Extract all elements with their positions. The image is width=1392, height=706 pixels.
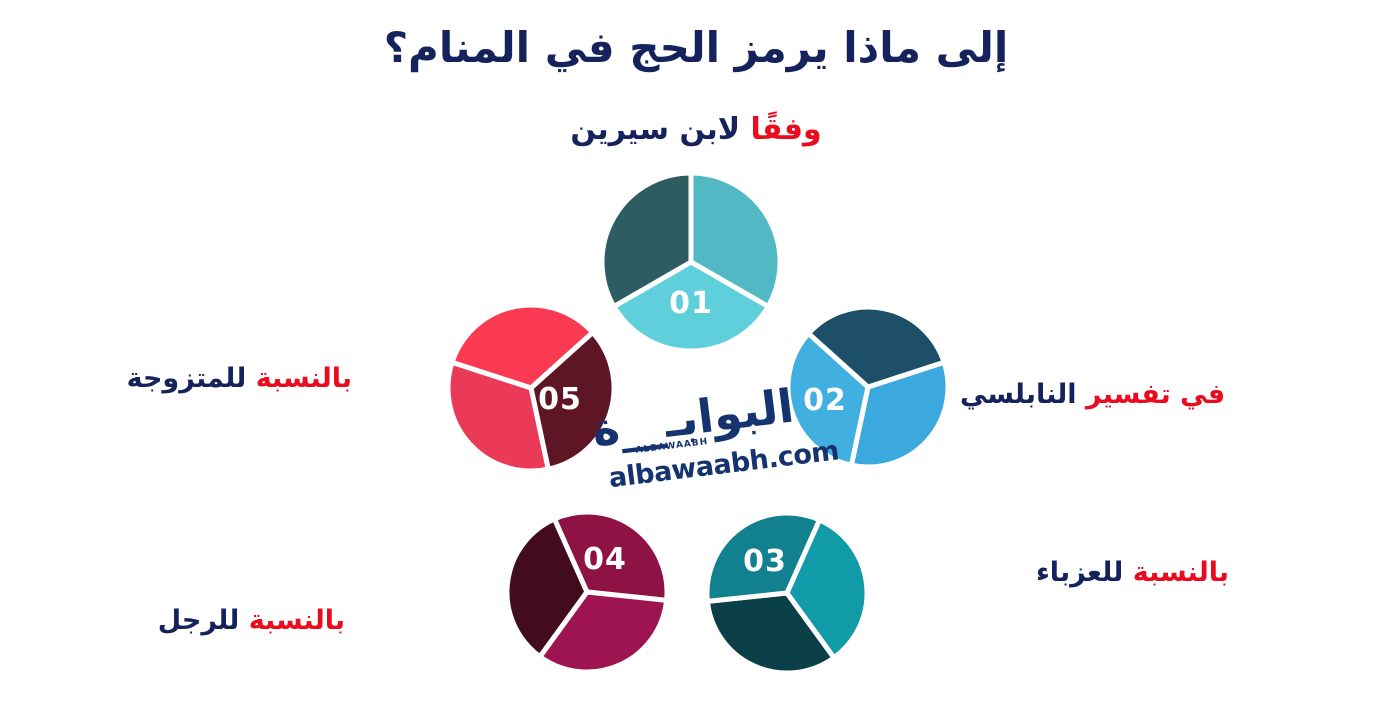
pie-wheel-02[interactable]	[788, 307, 948, 467]
page-title-text: إلى ماذا يرمز الحج في المنام؟	[384, 23, 1009, 72]
label-wheel-04: بالنسبة للرجل	[0, 604, 345, 638]
watermark-tiny-text: ALBAWAABH	[635, 437, 709, 456]
label-wheel-05-accent: بالنسبة	[256, 363, 352, 394]
page-subtitle: وفقًا لابن سيرين	[0, 112, 1392, 148]
page-title: إلى ماذا يرمز الحج في المنام؟	[0, 24, 1392, 72]
pie-wheel-01[interactable]	[602, 173, 780, 351]
watermark-arabic: البوابـ__ة	[589, 379, 797, 457]
pie-svg-04	[507, 512, 667, 672]
page-subtitle-accent: وفقًا	[751, 112, 822, 147]
label-wheel-04-accent: بالنسبة	[249, 605, 345, 636]
page-subtitle-rest: لابن سيرين	[570, 112, 750, 147]
pie-svg-01	[602, 173, 780, 351]
label-wheel-03: بالنسبة للعزباء	[1036, 556, 1392, 590]
label-wheel-02-rest: النابلسي	[960, 379, 1086, 410]
pie-wheel-03[interactable]	[707, 513, 867, 673]
pie-svg-05	[448, 305, 614, 471]
label-wheel-02-accent: في تفسير	[1086, 379, 1225, 410]
label-wheel-05-rest: للمتزوجة	[127, 363, 256, 394]
pie-wheel-04[interactable]	[507, 512, 667, 672]
label-wheel-05: بالنسبة للمتزوجة	[0, 362, 352, 396]
label-wheel-03-accent: بالنسبة	[1133, 557, 1229, 588]
pie-svg-03	[707, 513, 867, 673]
label-wheel-03-rest: للعزباء	[1036, 557, 1133, 588]
label-wheel-04-rest: للرجل	[158, 605, 249, 636]
label-wheel-02: في تفسير النابلسي	[960, 378, 1380, 412]
pie-svg-02	[788, 307, 948, 467]
pie-wheel-05[interactable]	[448, 305, 614, 471]
